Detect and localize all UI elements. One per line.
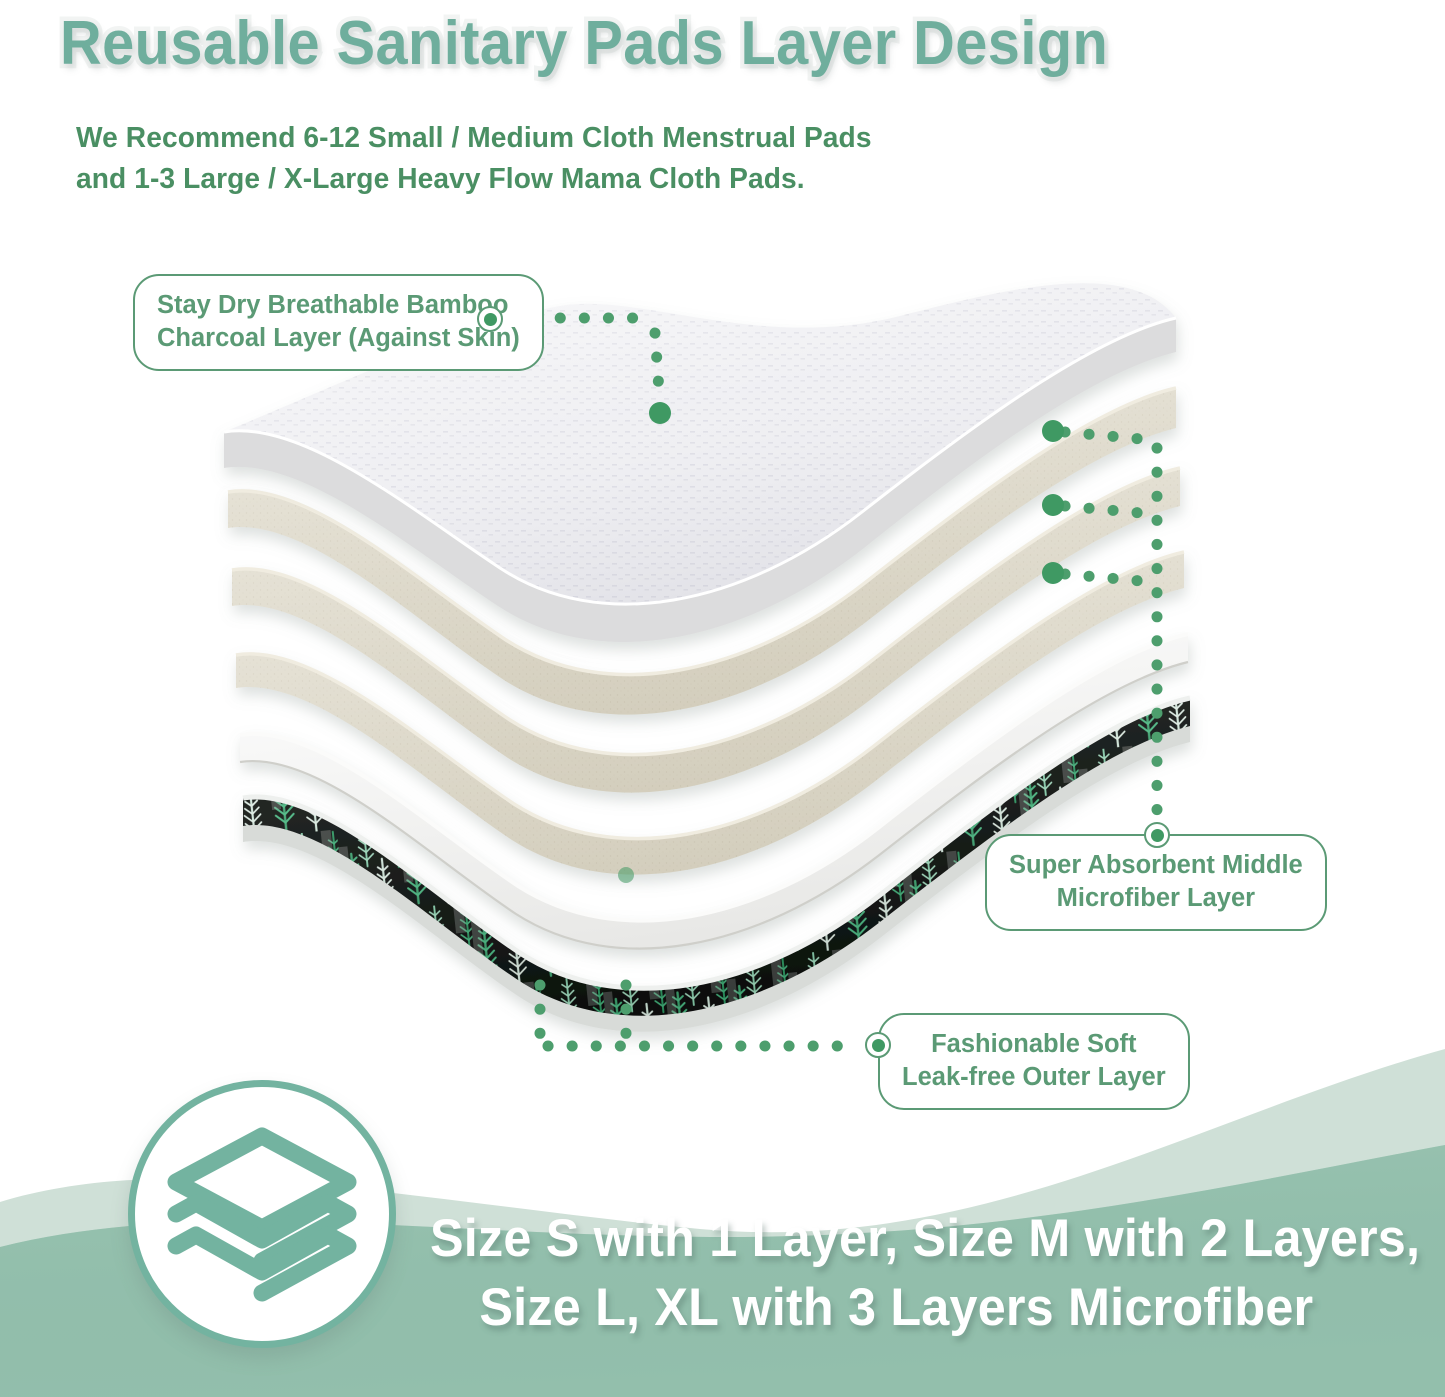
infographic-root: Reusable Sanitary Pads Layer Design We R…: [0, 0, 1445, 1397]
leader-end-dots: [618, 402, 1064, 883]
layer-microfiber-2: [232, 468, 1180, 793]
callout-outer-line-2: Leak-free Outer Layer: [902, 1061, 1166, 1094]
dot-microfiber-3: [1042, 562, 1064, 584]
leader-lines: [512, 318, 1157, 1046]
callout-super-absorbent-microfiber-layer[interactable]: Super Absorbent Middle Microfiber Layer: [985, 834, 1327, 931]
layers-stack-icon: [162, 1122, 362, 1307]
layers-badge: [128, 1080, 396, 1348]
banner-line-1: Size S with 1 Layer, Size M with 2 Layer…: [430, 1205, 1390, 1274]
subtitle-line-2: and 1-3 Large / X-Large Heavy Flow Mama …: [76, 159, 872, 200]
dot-outer-center: [618, 867, 634, 883]
dot-microfiber-2: [1042, 494, 1064, 516]
leader-microfiber-1: [1065, 432, 1152, 440]
size-banner: Size S with 1 Layer, Size M with 2 Layer…: [430, 1205, 1390, 1343]
callout-outer-line-1: Fashionable Soft: [902, 1028, 1166, 1061]
ring-marker-bamboo-icon: [477, 306, 503, 332]
callout-microfiber-line-2: Microfiber Layer: [1009, 882, 1303, 915]
callout-fashionable-outer-layer[interactable]: Fashionable Soft Leak-free Outer Layer: [878, 1013, 1190, 1110]
leader-microfiber-3: [1065, 574, 1152, 582]
subtitle-block: We Recommend 6-12 Small / Medium Cloth M…: [76, 118, 872, 200]
dot-microfiber-1: [1042, 420, 1064, 442]
callout-bamboo-line-2: Charcoal Layer (Against Skin): [157, 322, 520, 355]
ring-marker-outer-icon: [865, 1032, 891, 1058]
page-title: Reusable Sanitary Pads Layer Design: [60, 5, 1297, 83]
ring-marker-microfiber-icon: [1144, 822, 1170, 848]
banner-line-2: Size L, XL with 3 Layers Microfiber: [430, 1274, 1390, 1343]
callout-bamboo-line-1: Stay Dry Breathable Bamboo: [157, 289, 520, 322]
leader-microfiber-2: [1065, 506, 1152, 514]
leader-bamboo-vertical: [655, 333, 660, 405]
layer-microfiber-3: [236, 552, 1184, 875]
subtitle-line-1: We Recommend 6-12 Small / Medium Cloth M…: [76, 118, 872, 159]
layer-microfiber-1: [228, 388, 1176, 715]
dot-bamboo-end: [649, 402, 671, 424]
callout-microfiber-line-1: Super Absorbent Middle: [1009, 849, 1303, 882]
